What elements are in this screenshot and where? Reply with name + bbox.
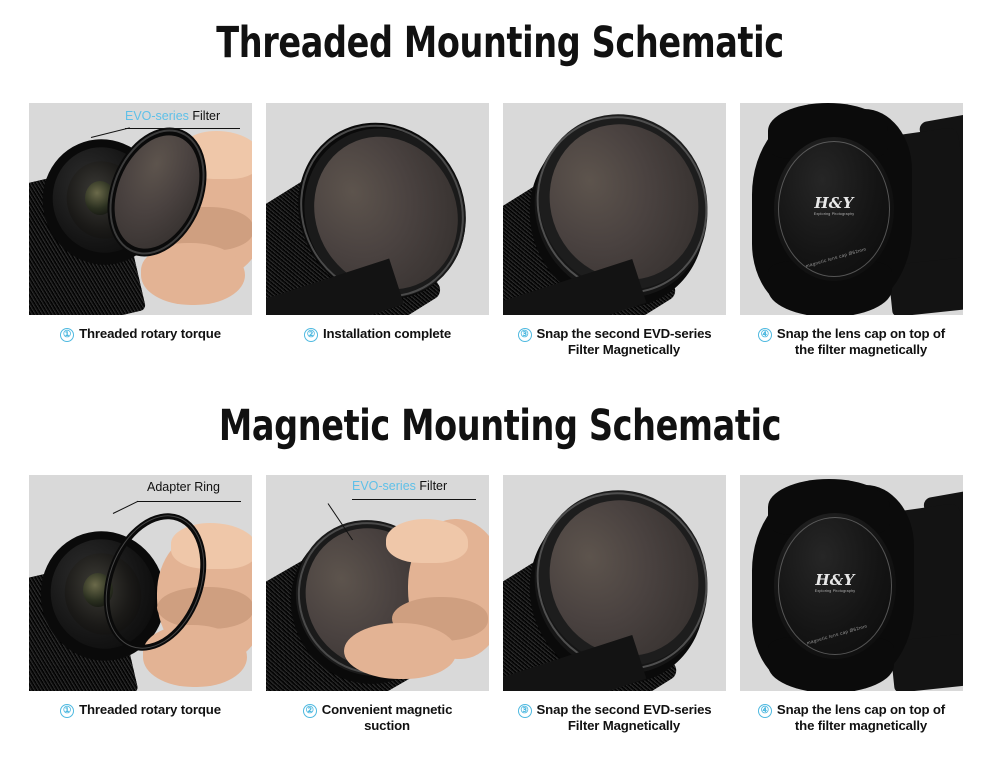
caption-line-1: Convenient magnetic	[322, 702, 453, 718]
callout-leader-diagonal	[91, 127, 130, 138]
photo-hand-snapping-filter: EVO-series Filter	[266, 475, 489, 691]
magnetic-panel-row: Adapter Ring ① Threaded rotary torque	[29, 475, 971, 734]
schematic-page: Threaded Mounting Schematic	[0, 0, 1000, 784]
caption-text: Snap the lens cap on top of the filter m…	[777, 326, 945, 358]
panel-threaded-step-2: ② Installation complete	[266, 103, 489, 358]
hand-thumb	[344, 623, 456, 679]
callout-plain-text: Filter	[419, 479, 447, 493]
caption-text: Convenient magnetic suction	[322, 702, 453, 734]
caption-text: Threaded rotary torque	[79, 326, 221, 342]
photo-lens-cap-installed: H&Y Exploring Photography magnetic lens …	[740, 475, 963, 691]
caption-line-1: Snap the lens cap on top of	[777, 702, 945, 718]
panel-threaded-step-1: EVO-series Filter ① Threaded rotary torq…	[29, 103, 252, 358]
panel-threaded-step-4: H&Y Exploring Photography magnetic lens …	[740, 103, 963, 358]
caption-line-2: Filter Magnetically	[537, 342, 712, 358]
panel-magnetic-step-2: EVO-series Filter ② Convenient magnetic …	[266, 475, 489, 734]
panel-threaded-step-3: ③ Snap the second EVD-series Filter Magn…	[503, 103, 726, 358]
step-number-badge: ④	[758, 328, 772, 342]
callout-plain-text: Adapter Ring	[147, 480, 220, 494]
photo-hand-holding-adapter-ring: Adapter Ring	[29, 475, 252, 691]
caption-threaded-step-4: ④ Snap the lens cap on top of the filter…	[740, 326, 963, 358]
caption-threaded-step-2: ② Installation complete	[266, 326, 489, 342]
callout-plain-text: Filter	[192, 109, 220, 123]
step-number-badge: ①	[60, 704, 74, 718]
caption-text: Threaded rotary torque	[79, 702, 221, 718]
panel-magnetic-step-1: Adapter Ring ① Threaded rotary torque	[29, 475, 252, 734]
caption-line-1: Snap the second EVD-series	[537, 702, 712, 718]
section-title-magnetic-wrapper: Magnetic Mounting Schematic	[0, 405, 1000, 448]
hy-brand-logo: H&Y	[774, 196, 894, 211]
photo-hand-holding-filter: EVO-series Filter	[29, 103, 252, 315]
caption-text: Snap the lens cap on top of the filter m…	[777, 702, 945, 734]
caption-threaded-step-3: ③ Snap the second EVD-series Filter Magn…	[503, 326, 726, 358]
caption-text: Installation complete	[323, 326, 451, 342]
caption-line-2: the filter magnetically	[777, 342, 945, 358]
callout-leader-line	[352, 499, 476, 500]
step-number-badge: ③	[518, 328, 532, 342]
caption-text: Snap the second EVD-series Filter Magnet…	[537, 702, 712, 734]
callout-leader-line	[137, 501, 241, 502]
step-number-badge: ③	[518, 704, 532, 718]
photo-second-filter-stacked	[503, 103, 726, 315]
photo-lens-cap-installed: H&Y Exploring Photography magnetic lens …	[740, 103, 963, 315]
threaded-panel-row: EVO-series Filter ① Threaded rotary torq…	[29, 103, 971, 358]
caption-magnetic-step-4: ④ Snap the lens cap on top of the filter…	[740, 702, 963, 734]
panel-magnetic-step-3: ③ Snap the second EVD-series Filter Magn…	[503, 475, 726, 734]
section-title-magnetic: Magnetic Mounting Schematic	[110, 405, 890, 448]
step-number-badge: ④	[758, 704, 772, 718]
hy-tagline: Exploring Photography	[774, 590, 896, 594]
section-title-threaded-wrapper: Threaded Mounting Schematic	[0, 22, 1000, 65]
caption-magnetic-step-2: ② Convenient magnetic suction	[266, 702, 489, 734]
caption-line-2: Filter Magnetically	[537, 718, 712, 734]
step-number-badge: ②	[304, 328, 318, 342]
photo-filter-mounted	[266, 103, 489, 315]
caption-threaded-step-1: ① Threaded rotary torque	[29, 326, 252, 342]
hy-tagline: Exploring Photography	[774, 213, 894, 217]
caption-text: Snap the second EVD-series Filter Magnet…	[537, 326, 712, 358]
caption-magnetic-step-1: ① Threaded rotary torque	[29, 702, 252, 718]
callout-evo-series-filter: EVO-series Filter	[125, 110, 220, 123]
hand-finger-index	[386, 519, 468, 563]
caption-line-2: the filter magnetically	[777, 718, 945, 734]
callout-leader-line	[125, 128, 240, 129]
step-number-badge: ②	[303, 704, 317, 718]
caption-line-2: suction	[322, 718, 453, 734]
hy-brand-logo: H&Y	[774, 573, 896, 588]
photo-second-filter-stacked	[503, 475, 726, 691]
step-number-badge: ①	[60, 328, 74, 342]
callout-evo-series-filter: EVO-series Filter	[352, 480, 447, 493]
caption-line-1: Snap the second EVD-series	[537, 326, 712, 342]
callout-accent-text: EVO-series	[125, 109, 189, 123]
callout-accent-text: EVO-series	[352, 479, 416, 493]
section-title-threaded: Threaded Mounting Schematic	[110, 22, 890, 65]
panel-magnetic-step-4: H&Y Exploring Photography magnetic lens …	[740, 475, 963, 734]
caption-magnetic-step-3: ③ Snap the second EVD-series Filter Magn…	[503, 702, 726, 734]
caption-line-1: Snap the lens cap on top of	[777, 326, 945, 342]
callout-leader-diagonal	[113, 501, 139, 514]
callout-adapter-ring: Adapter Ring	[147, 481, 220, 494]
